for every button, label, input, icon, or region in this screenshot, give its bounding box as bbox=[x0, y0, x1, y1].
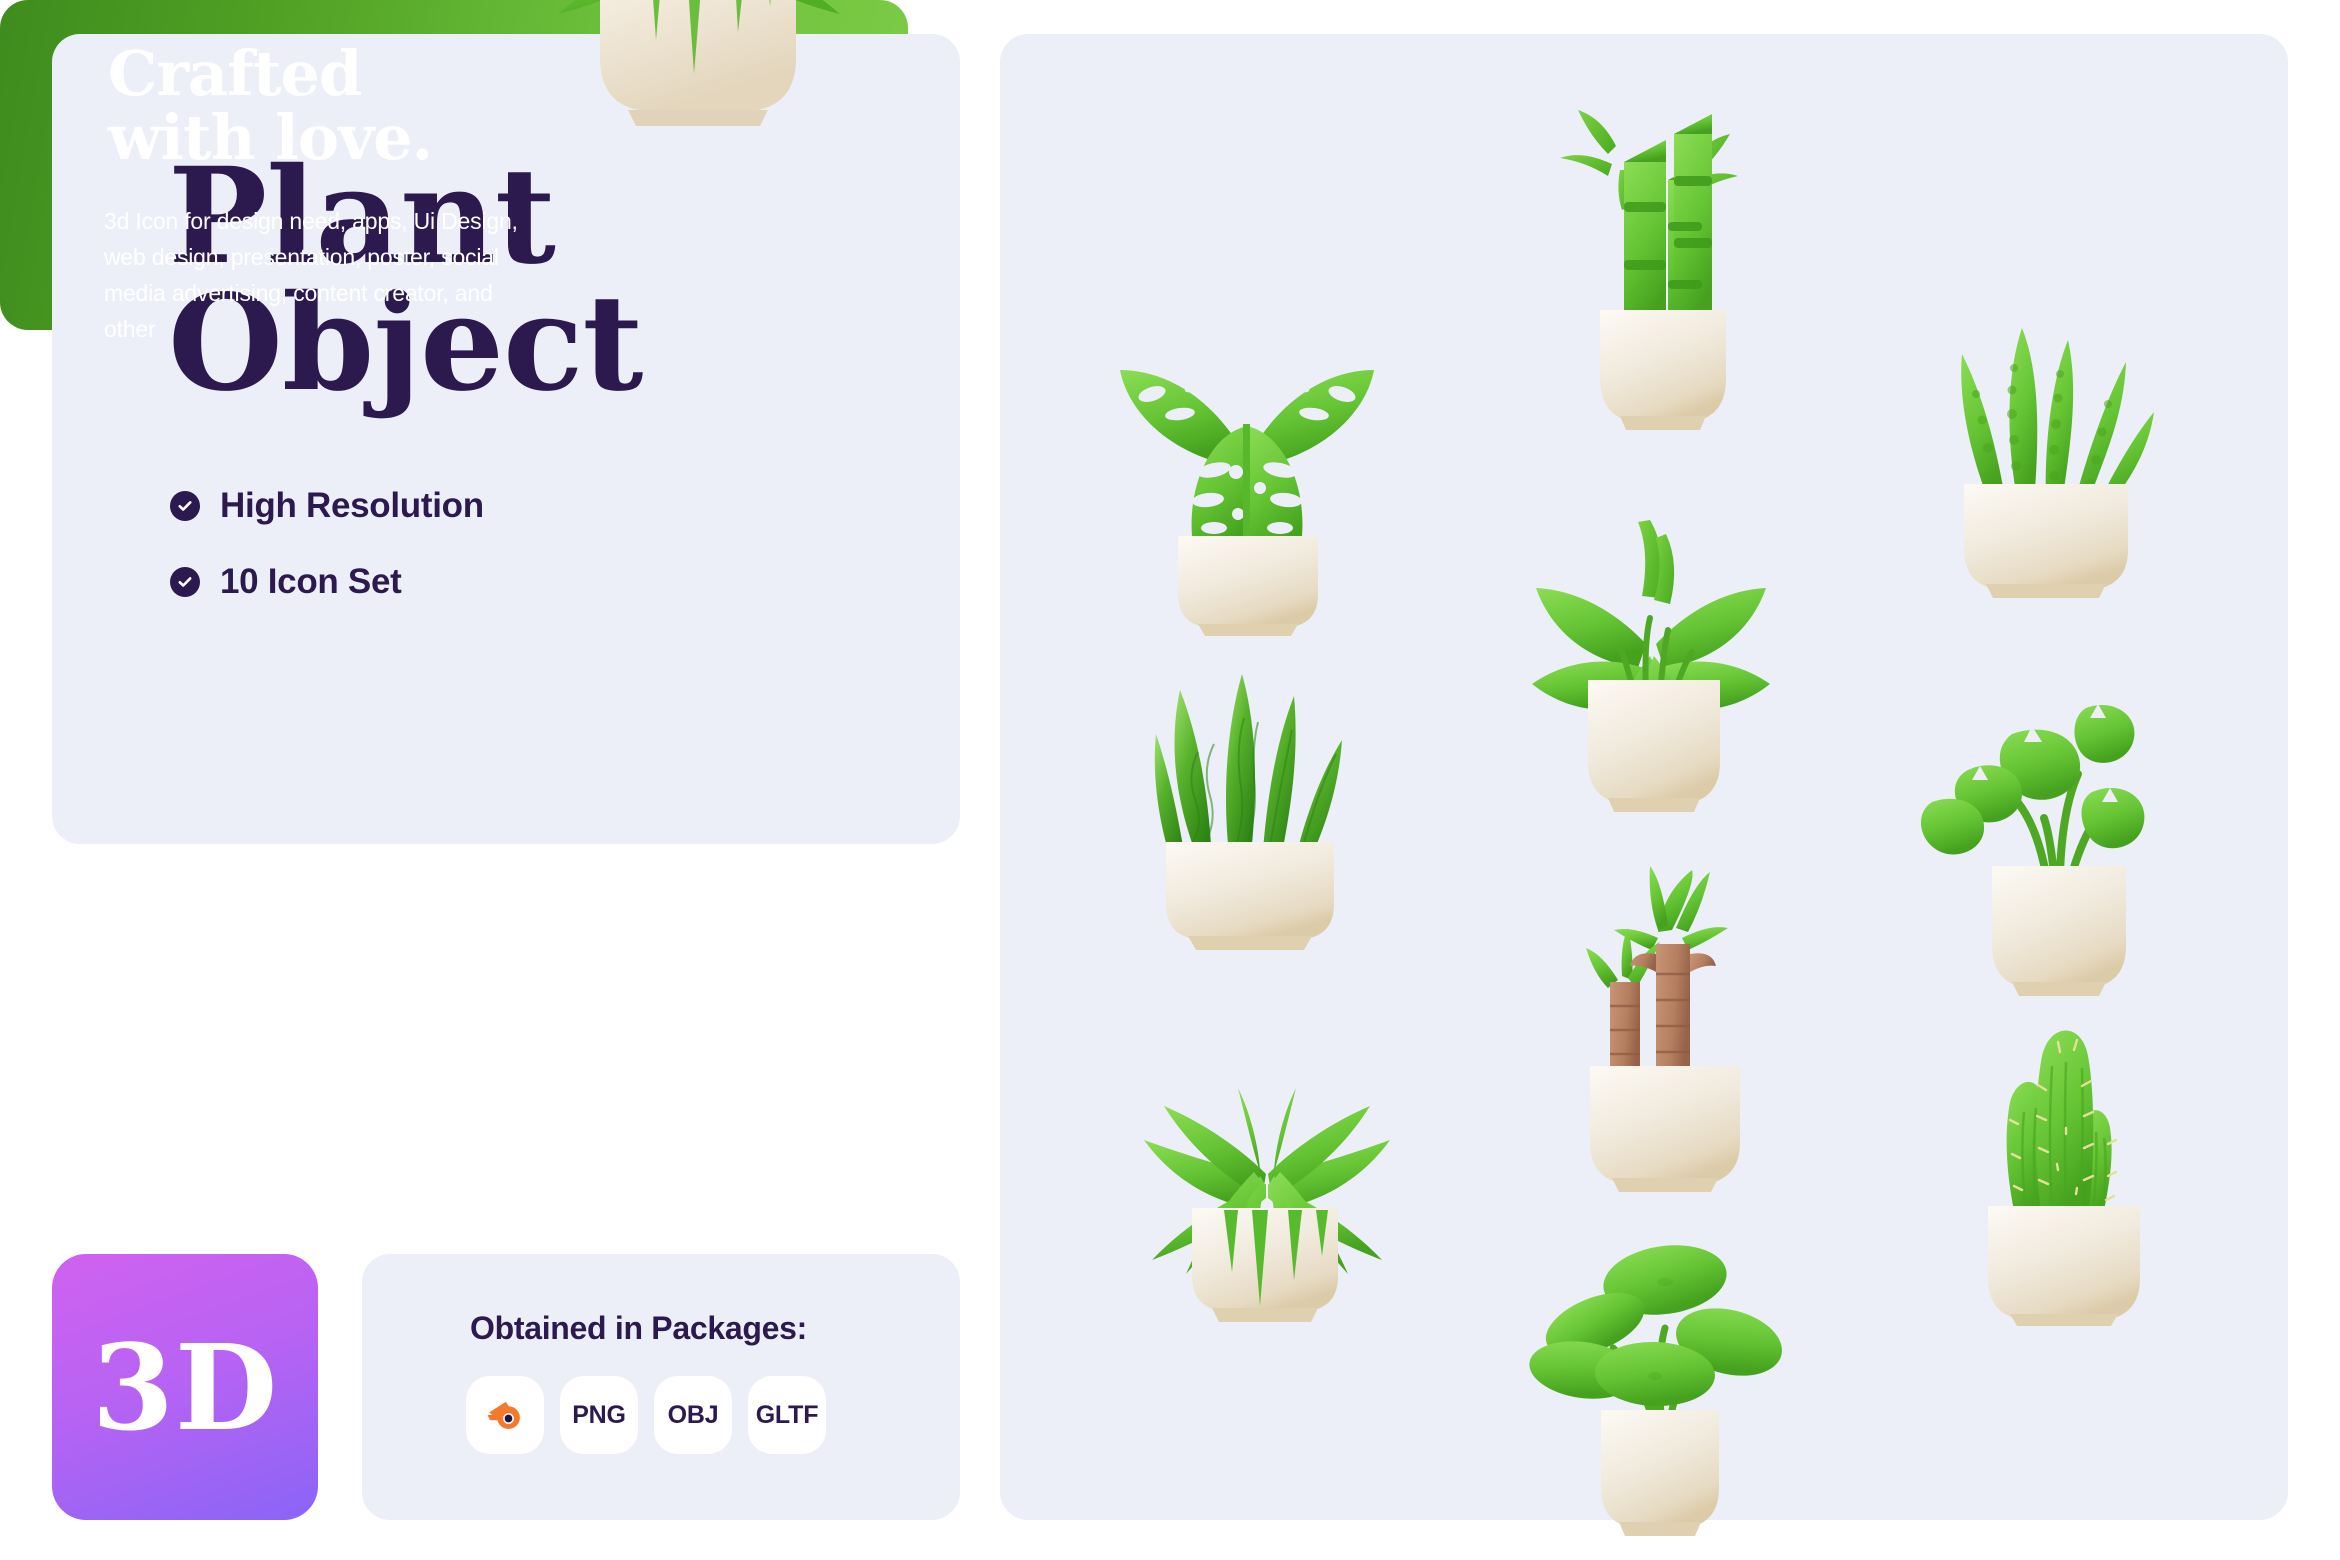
poster-canvas: Plant Object High Resolution 10 Icon S bbox=[0, 0, 2340, 1560]
promo-heading-line-2: with love. bbox=[108, 106, 432, 170]
heartleaf-plant bbox=[1920, 674, 2200, 1004]
feature-item-high-resolution: High Resolution bbox=[170, 486, 484, 526]
dracaena-plant bbox=[1530, 864, 1800, 1204]
monstera-plant bbox=[1092, 274, 1402, 634]
plant-gallery-card bbox=[1000, 34, 2288, 1520]
check-circle-icon bbox=[170, 567, 200, 597]
feature-label: 10 Icon Set bbox=[220, 562, 402, 602]
promo-body-text: 3d Icon for design need, apps, Ui Design… bbox=[104, 204, 524, 348]
packages-card: Obtained in Packages: PNG OBJ GLTF bbox=[362, 1254, 960, 1520]
snake-plant bbox=[1110, 634, 1390, 964]
spider-plant bbox=[1120, 1074, 1410, 1374]
promo-card: Crafted with love. 3d Icon for design ne… bbox=[0, 0, 908, 330]
peace-lily-plant bbox=[1510, 494, 1790, 824]
feature-list: High Resolution 10 Icon Set bbox=[170, 486, 484, 638]
check-circle-icon bbox=[170, 491, 200, 521]
pilea-coin-plant bbox=[1525, 1214, 1795, 1544]
package-chip-obj[interactable]: OBJ bbox=[654, 1376, 732, 1454]
aloe-vera-plant bbox=[1910, 284, 2180, 604]
package-chip-gltf[interactable]: GLTF bbox=[748, 1376, 826, 1454]
packages-title: Obtained in Packages: bbox=[470, 1310, 807, 1347]
package-chip-png[interactable]: PNG bbox=[560, 1376, 638, 1454]
feature-item-icon-set: 10 Icon Set bbox=[170, 562, 484, 602]
badge-3d-label: 3D bbox=[92, 1318, 278, 1457]
badge-3d: 3D bbox=[52, 1254, 318, 1520]
cactus-plant bbox=[1930, 994, 2190, 1324]
promo-heading: Crafted with love. bbox=[108, 42, 432, 170]
package-chip-list: PNG OBJ GLTF bbox=[466, 1376, 826, 1454]
feature-label: High Resolution bbox=[220, 486, 484, 526]
package-chip-blender[interactable] bbox=[466, 1376, 544, 1454]
blender-logo-icon bbox=[484, 1394, 526, 1436]
promo-heading-line-1: Crafted bbox=[108, 42, 432, 106]
promo-spider-plant-illustration bbox=[488, 0, 918, 150]
lucky-bamboo-plant bbox=[1520, 104, 1780, 444]
